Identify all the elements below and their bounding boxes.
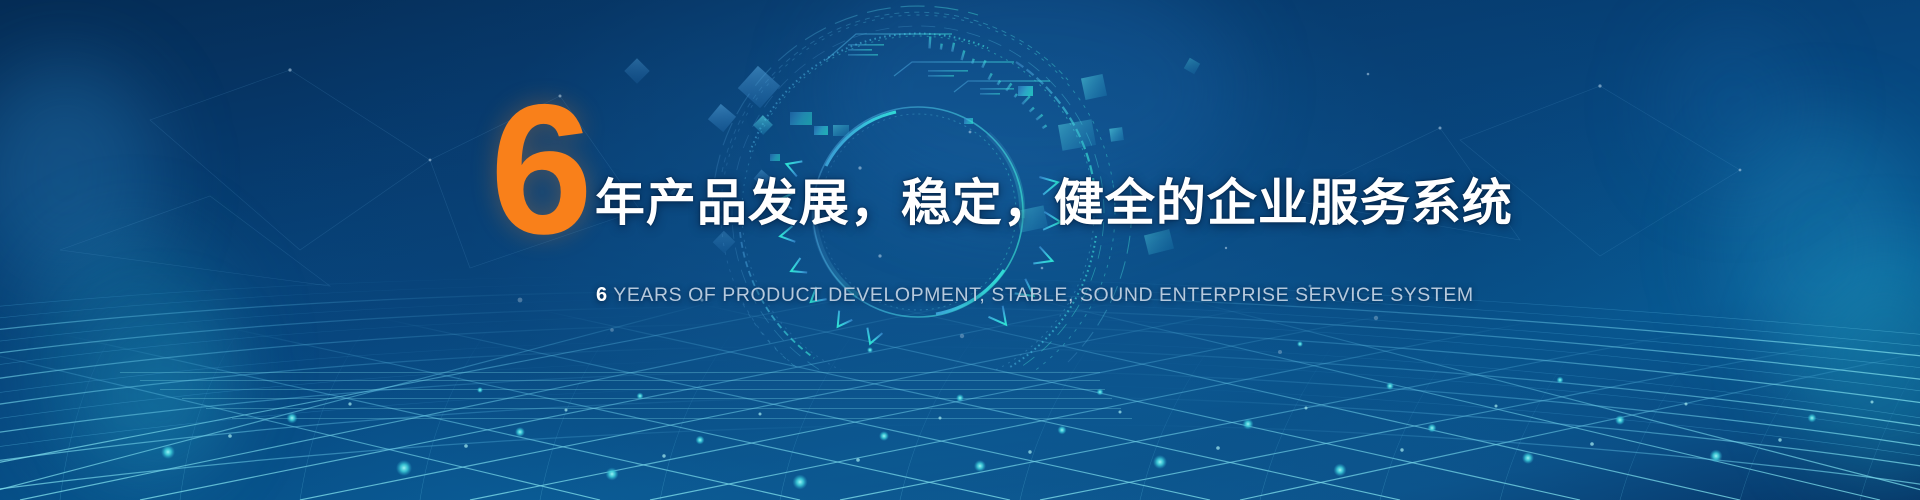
bokeh-glow-right-b — [1790, 250, 1920, 480]
headline-number: 6 — [490, 98, 589, 242]
bokeh-glow-left-a — [0, 60, 160, 290]
hero-banner: 6 年产品发展，稳定，健全的企业服务系统 6 YEARS OF PRODUCT … — [0, 0, 1920, 500]
subtitle-english: 6 YEARS OF PRODUCT DEVELOPMENT, STABLE, … — [596, 284, 1474, 307]
bokeh-glow-left-b — [30, 230, 240, 490]
bokeh-glow-right-c — [1660, 20, 1810, 190]
subtitle-lead-number: 6 — [596, 284, 608, 306]
subtitle-rest: YEARS OF PRODUCT DEVELOPMENT, STABLE, SO… — [608, 284, 1474, 306]
tech-circle-hud — [0, 0, 1920, 500]
headline-row: 6 年产品发展，稳定，健全的企业服务系统 — [490, 92, 1513, 236]
banner-text-block: 6 年产品发展，稳定，健全的企业服务系统 6 YEARS OF PRODUCT … — [0, 0, 1920, 500]
bokeh-glow-center-top — [820, 0, 1240, 220]
floating-particles — [0, 0, 1920, 500]
bokeh-glow-right-a — [1720, 120, 1920, 370]
headline-chinese: 年产品发展，稳定，健全的企业服务系统 — [595, 178, 1513, 228]
bokeh-glow-left-c — [95, 320, 225, 470]
floating-squares — [0, 0, 1920, 500]
network-mesh-terrain — [0, 0, 1920, 500]
